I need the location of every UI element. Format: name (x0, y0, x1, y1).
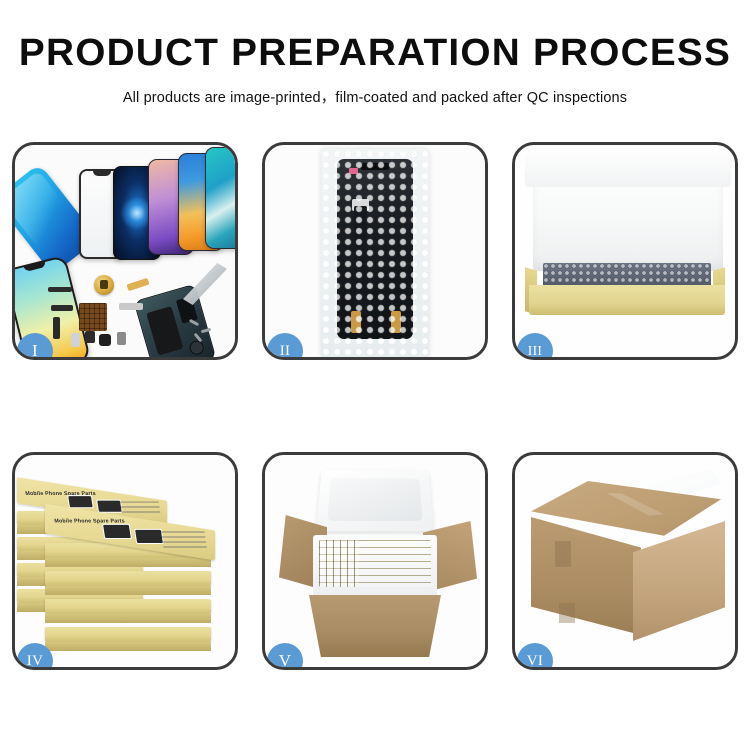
step-photo-frame-6: VI (512, 452, 738, 670)
connector-grid-part (79, 303, 107, 331)
gold-contact-right (391, 311, 401, 333)
screen-flex-cable (354, 206, 367, 314)
box-screen-image (134, 529, 164, 544)
step-photo-3 (515, 145, 735, 357)
flex-cable-grey-part (119, 303, 143, 310)
box-side (45, 586, 211, 595)
step-photo-1 (15, 145, 235, 357)
box-side (45, 642, 211, 651)
page-title: PRODUCT PREPARATION PROCESS (0, 34, 750, 72)
step-photo-frame-2: II (262, 142, 488, 360)
stacked-box (45, 599, 211, 614)
step-photo-frame-5: V (262, 452, 488, 670)
carton-right-face (633, 521, 725, 641)
box-spec-lines (120, 502, 161, 516)
earpiece-mesh-part (48, 287, 72, 292)
lcd-screen-assembly (337, 159, 413, 339)
step-photo-4: Mobile Phone Spare Parts Mobile Phone Sp… (15, 455, 235, 667)
box-spec-lines (161, 532, 207, 548)
vibrator-part (99, 334, 111, 346)
screws-group (189, 319, 223, 341)
antenna-cable-part (53, 317, 60, 339)
battery-part (146, 306, 183, 355)
page-header: PRODUCT PREPARATION PROCESS All products… (0, 0, 750, 107)
box-screen-image (67, 495, 93, 509)
step-photo-5 (265, 455, 485, 667)
camera-module-part (188, 339, 205, 356)
screw-part (194, 333, 203, 343)
box-stack: Mobile Phone Spare Parts Mobile Phone Sp… (15, 455, 235, 667)
flex-cable-gold-part (126, 278, 149, 291)
box-screen-image (102, 524, 132, 539)
process-step-1: I (0, 136, 250, 446)
tweezers-tool (183, 263, 227, 305)
foam-case-lid (316, 470, 434, 532)
step-photo-frame-1: I (12, 142, 238, 360)
step-photo-frame-3: III (512, 142, 738, 360)
stacked-box (45, 627, 211, 642)
stacked-box (45, 571, 211, 586)
screw-part (189, 319, 199, 326)
process-step-6: VI (500, 446, 750, 756)
sim-tray-part (71, 333, 80, 347)
carton-left-face (531, 517, 641, 635)
step-photo-2 (265, 145, 485, 357)
bracket-part (117, 332, 126, 345)
button-part (85, 331, 95, 343)
gold-contact-left (351, 311, 361, 333)
box-side (45, 558, 211, 567)
box-screen-image (96, 499, 122, 513)
foam-sheet-lid (533, 159, 723, 271)
carton-seam-lower (559, 603, 575, 623)
step-photo-frame-4: Mobile Phone Spare Parts Mobile Phone Sp… (12, 452, 238, 670)
page-subtitle: All products are image-printed，film-coat… (0, 86, 750, 107)
process-step-5: V (250, 446, 500, 756)
step-photo-6 (515, 455, 735, 667)
speaker-coil-part (94, 275, 114, 295)
process-step-4: Mobile Phone Spare Parts Mobile Phone Sp… (0, 446, 250, 756)
box-side (45, 614, 211, 623)
carton-front-panel (309, 595, 441, 657)
phone-teal-wallpaper (205, 147, 235, 249)
process-step-grid: I II (0, 136, 750, 756)
process-step-3: III (500, 136, 750, 446)
foam-case-body (313, 535, 437, 597)
carton-seam-upper (555, 541, 571, 567)
ribbon-cable-part (51, 305, 73, 311)
inner-box-front-wall (529, 285, 725, 315)
packed-boxes-column (319, 540, 359, 587)
small-parts-cluster (71, 331, 131, 351)
process-step-2: II (250, 136, 500, 446)
qc-sticker (349, 168, 358, 174)
screw-part (201, 328, 211, 334)
